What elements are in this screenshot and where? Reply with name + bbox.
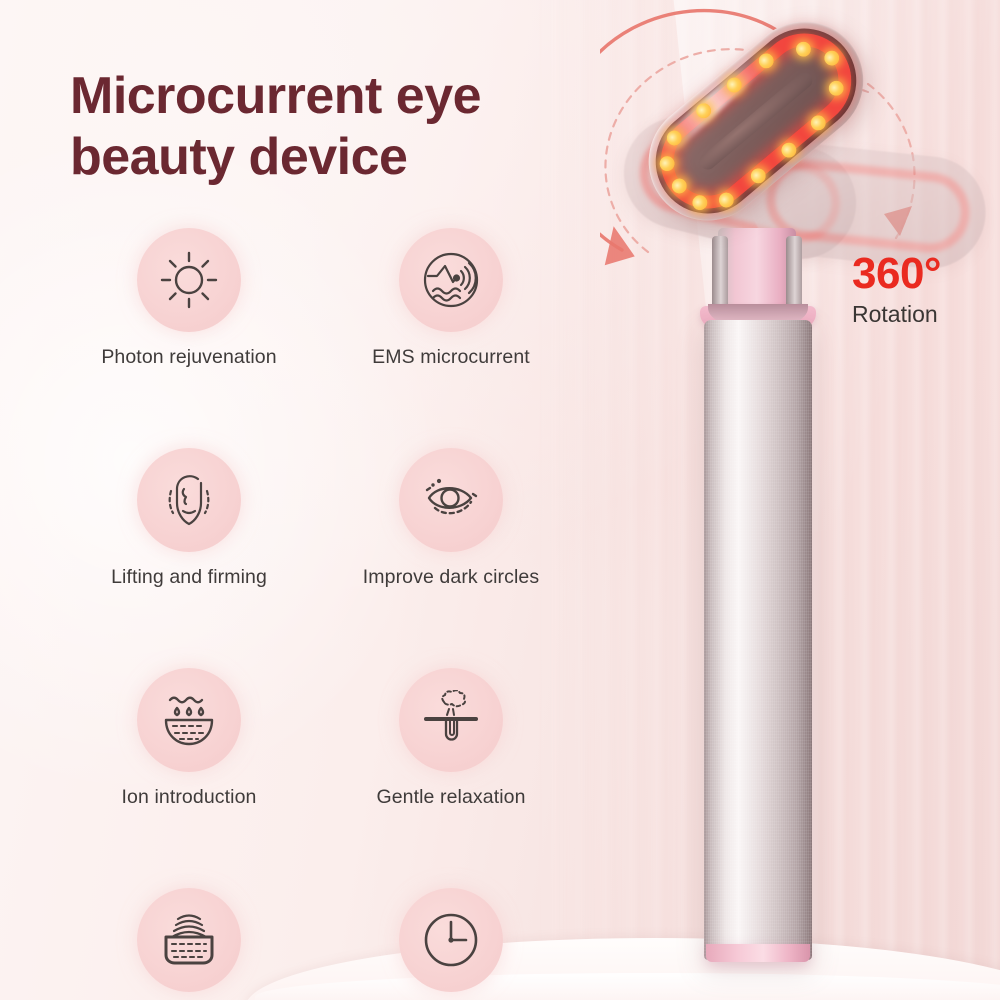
product-device: 360° Rotation bbox=[600, 0, 1000, 1000]
rotation-callout: 360° Rotation bbox=[852, 252, 941, 326]
page-title-line-1: Microcurrent eye bbox=[70, 66, 670, 127]
feature-item-lifting-and-firming[interactable]: Lifting and firming bbox=[60, 448, 318, 589]
clock-icon bbox=[421, 910, 481, 970]
feature-badge bbox=[399, 228, 503, 332]
feature-row: Photon rejuvenation bbox=[60, 228, 600, 369]
feature-label: EMS microcurrent bbox=[372, 346, 530, 369]
feature-row: Promote metabolism Automatic timing bbox=[60, 888, 600, 1000]
feature-row: Ion introduction Gent bbox=[60, 668, 600, 809]
feature-item-improve-dark-circles[interactable]: Improve dark circles bbox=[322, 448, 580, 589]
pore-steam-icon bbox=[420, 690, 482, 750]
rotation-degrees: 360° bbox=[852, 252, 941, 296]
feature-label: Improve dark circles bbox=[363, 566, 539, 589]
device-handle bbox=[704, 320, 812, 960]
rotation-caption: Rotation bbox=[852, 303, 941, 326]
sun-icon bbox=[159, 250, 219, 310]
eye-icon bbox=[419, 472, 483, 528]
feature-badge bbox=[399, 668, 503, 772]
feature-badge bbox=[399, 888, 503, 992]
feature-label: Gentle relaxation bbox=[376, 786, 525, 809]
feature-label: Lifting and firming bbox=[111, 566, 267, 589]
ems-wave-icon bbox=[420, 249, 482, 311]
page-title-line-2: beauty device bbox=[70, 127, 670, 188]
feature-badge bbox=[137, 228, 241, 332]
device-base bbox=[706, 944, 810, 962]
feature-item-promote-metabolism[interactable]: Promote metabolism bbox=[60, 888, 318, 1000]
device-handle-texture bbox=[704, 320, 812, 960]
product-banner: Microcurrent eye beauty device bbox=[0, 0, 1000, 1000]
ion-bowl-icon bbox=[158, 692, 220, 748]
feature-label: Ion introduction bbox=[122, 786, 257, 809]
feature-row: Lifting and firming bbox=[60, 448, 600, 589]
feature-item-automatic-timing[interactable]: Automatic timing bbox=[322, 888, 580, 1000]
face-lifting-icon bbox=[158, 469, 220, 531]
skin-waves-icon bbox=[158, 911, 220, 969]
feature-badge bbox=[137, 888, 241, 992]
feature-label: Photon rejuvenation bbox=[101, 346, 276, 369]
feature-item-ion-introduction[interactable]: Ion introduction bbox=[60, 668, 318, 809]
feature-badge bbox=[137, 668, 241, 772]
page-title: Microcurrent eye beauty device bbox=[70, 66, 670, 188]
feature-item-ems-microcurrent[interactable]: EMS microcurrent bbox=[322, 228, 580, 369]
feature-badge bbox=[137, 448, 241, 552]
feature-badge bbox=[399, 448, 503, 552]
feature-item-photon-rejuvenation[interactable]: Photon rejuvenation bbox=[60, 228, 318, 369]
feature-item-gentle-relaxation[interactable]: Gentle relaxation bbox=[322, 668, 580, 809]
feature-list: Photon rejuvenation bbox=[60, 228, 600, 1000]
